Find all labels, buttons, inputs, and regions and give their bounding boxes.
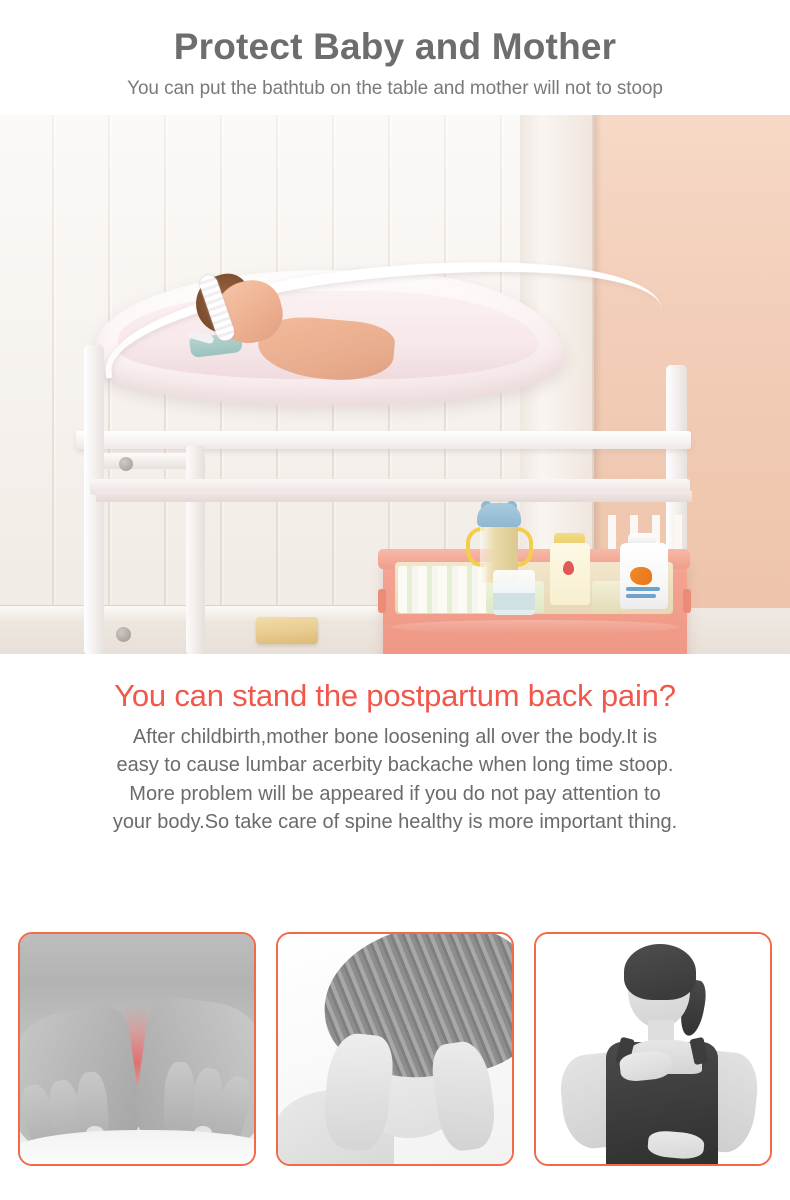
copy-block: You can stand the postpartum back pain? … <box>0 654 790 836</box>
changing-table-top <box>76 431 691 449</box>
breathing-exercise-image <box>536 934 770 1164</box>
pigeon-label-line-1 <box>626 587 660 591</box>
copy-body-line: After childbirth,mother bone loosening a… <box>0 723 790 751</box>
hair <box>624 944 696 1000</box>
symptom-card-back-pain <box>18 932 256 1166</box>
symptom-card-breathing <box>534 932 772 1166</box>
symptom-card-headache <box>276 932 514 1166</box>
table-lower-shelf <box>96 491 692 502</box>
pigeon-label-line-2 <box>626 594 656 598</box>
back-pain-image <box>20 934 254 1164</box>
table-leg-left-inner <box>186 445 205 654</box>
basket-hook-left <box>378 589 386 613</box>
copy-body-line: your body.So take care of spine healthy … <box>0 808 790 836</box>
symptom-card-row <box>18 932 772 1166</box>
bottle-cap <box>477 503 521 527</box>
bath-sponge <box>256 617 318 644</box>
copy-heading: You can stand the postpartum back pain? <box>0 678 790 714</box>
page-subtitle: You can put the bathtub on the table and… <box>0 78 790 100</box>
basket-hook-right <box>683 589 691 613</box>
johnson-logo-icon <box>563 561 574 575</box>
page-title: Protect Baby and Mother <box>0 26 790 67</box>
page-header: Protect Baby and Mother You can put the … <box>0 0 790 100</box>
white-sheet <box>18 1130 256 1166</box>
copy-body-line: easy to cause lumbar acerbity backache w… <box>0 751 790 779</box>
copy-body-line: More problem will be appeared if you do … <box>0 780 790 808</box>
diapers-stack <box>398 566 488 613</box>
headache-image <box>278 934 512 1164</box>
hero-product-image <box>0 115 790 654</box>
cotton-swab-jar-label <box>493 593 535 610</box>
copy-body: After childbirth,mother bone loosening a… <box>0 723 790 837</box>
